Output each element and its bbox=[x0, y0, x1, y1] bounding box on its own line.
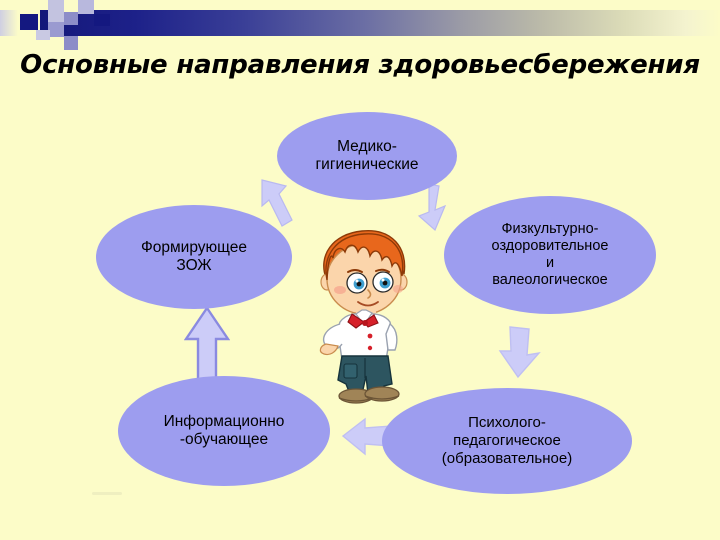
header-square-7 bbox=[64, 36, 78, 50]
header-square-4 bbox=[48, 22, 64, 37]
header-gradient-bar bbox=[40, 10, 720, 36]
header-square-5 bbox=[64, 0, 78, 12]
slide-title: Основные направления здоровьесбережения bbox=[0, 50, 720, 80]
decorative-dash bbox=[92, 492, 122, 495]
header-square-3 bbox=[48, 0, 64, 22]
node-physical-health[interactable]: Физкультурно- оздоровительное и валеолог… bbox=[444, 196, 656, 314]
header-square-1 bbox=[0, 10, 18, 36]
arrow-up-icon bbox=[184, 305, 230, 383]
header-square-9 bbox=[94, 14, 110, 26]
node-medical-hygienic[interactable]: Медико- гигиенические bbox=[277, 112, 457, 200]
slide-canvas: Основные направления здоровьесбережения … bbox=[0, 0, 720, 540]
node-forming-healthy-lifestyle[interactable]: Формирующее ЗОЖ bbox=[96, 205, 292, 309]
header-square-2 bbox=[20, 14, 38, 30]
arrow-down-icon bbox=[497, 325, 543, 381]
header-square-6 bbox=[64, 12, 78, 25]
node-informational-educational[interactable]: Информационно -обучающее bbox=[118, 376, 330, 486]
header-square-10 bbox=[36, 30, 50, 40]
cartoon-boy-illustration bbox=[300, 226, 428, 404]
header-square-8 bbox=[78, 0, 94, 14]
